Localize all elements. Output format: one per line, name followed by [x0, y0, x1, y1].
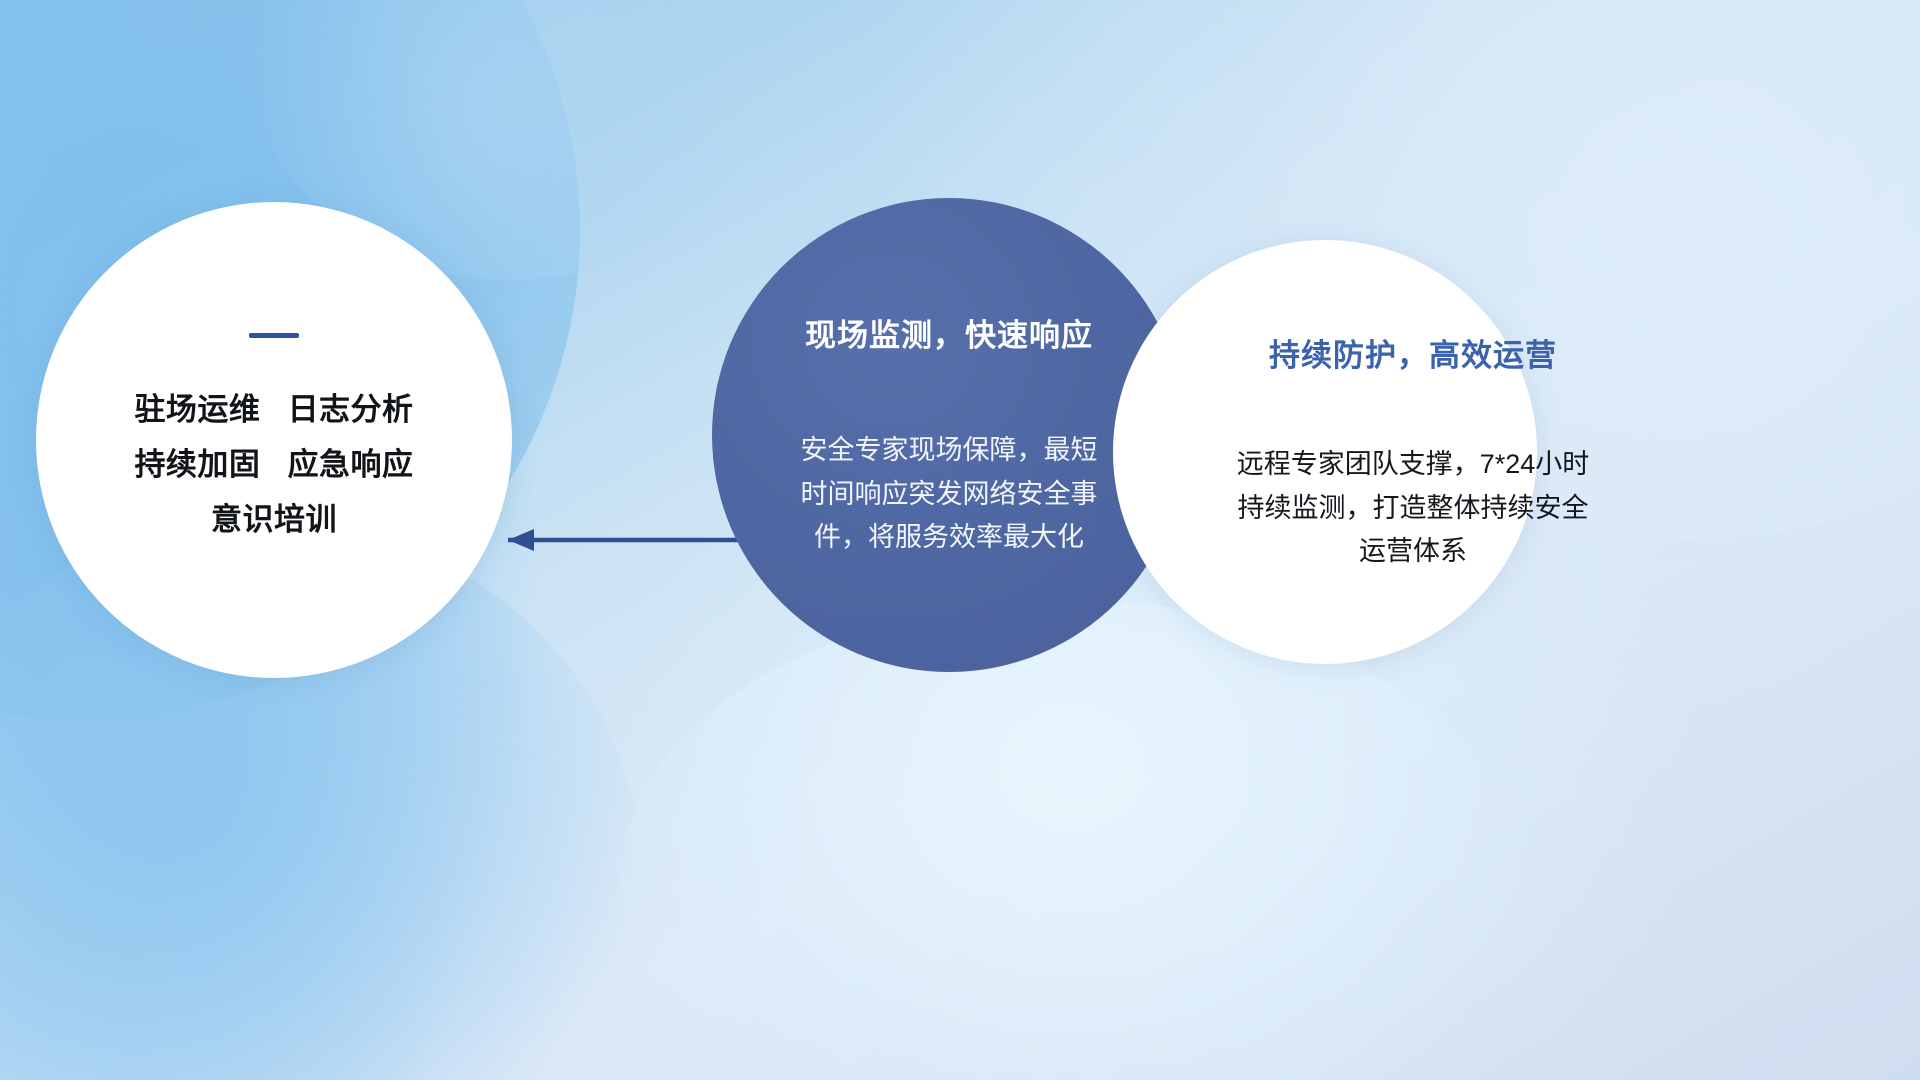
middle-circle-body: 安全专家现场保障，最短时间响应突发网络安全事件，将服务效率最大化 — [799, 429, 1099, 560]
slide-canvas: 驻场运维 日志分析 持续加固 应急响应 意识培训 现场监测，快速响应 安全专家现… — [0, 0, 1920, 1080]
capability-tag-row: 驻场运维 日志分析 — [125, 382, 422, 437]
capability-circle-right — [1113, 240, 1537, 664]
background-gradient-blob-center — [620, 600, 1520, 1080]
capability-tag-list: 驻场运维 日志分析 持续加固 应急响应 意识培训 — [125, 382, 422, 548]
capability-circle-left: 驻场运维 日志分析 持续加固 应急响应 意识培训 — [36, 202, 512, 678]
capability-tag: 应急响应 — [288, 447, 414, 482]
capability-tag: 日志分析 — [288, 392, 414, 427]
capability-tag: 驻场运维 — [134, 392, 260, 427]
divider-dash-icon — [249, 333, 299, 338]
capability-tag: 持续加固 — [134, 447, 260, 482]
capability-tag-row: 意识培训 — [125, 492, 422, 547]
capability-tag-row: 持续加固 应急响应 — [125, 437, 422, 492]
middle-circle-title: 现场监测，快速响应 — [805, 310, 1093, 355]
capability-tag: 意识培训 — [211, 502, 337, 537]
